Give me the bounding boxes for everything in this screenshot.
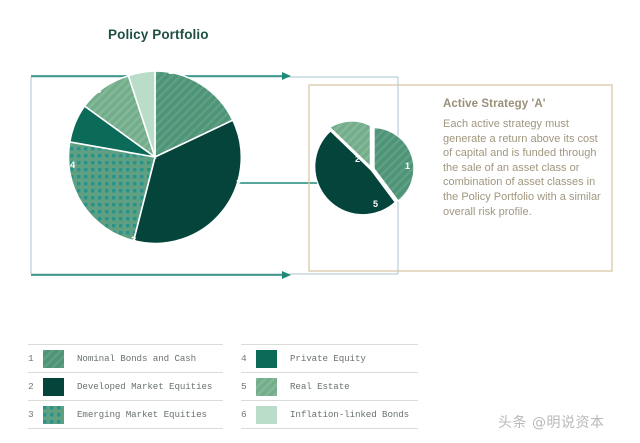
- legend-item-2: 2 Developed Market Equities: [28, 373, 223, 401]
- pie-label-2: 2: [236, 178, 241, 189]
- legend-number: 1: [28, 353, 43, 364]
- legend-item-6: 6 Inflation-linked Bonds: [241, 401, 418, 429]
- legend-swatch-solid-pale-green: [256, 406, 277, 424]
- legend-swatch-hatch-medium-green: [43, 350, 64, 368]
- pie-label-4: 4: [70, 160, 76, 171]
- legend-number: 3: [28, 409, 43, 420]
- infographic-canvas: Policy Portfolio: [0, 0, 640, 443]
- legend-item-1: 1 Nominal Bonds and Cash: [28, 344, 223, 373]
- pie-label-6: 6: [140, 64, 145, 75]
- legend-swatch-solid-teal: [256, 350, 277, 368]
- legend-label: Emerging Market Equities: [77, 409, 207, 420]
- legend-number: 5: [241, 381, 256, 392]
- legend-number: 6: [241, 409, 256, 420]
- legend: 1 Nominal Bonds and Cash 2 Developed Mar…: [28, 344, 418, 429]
- legend-number: 2: [28, 381, 43, 392]
- legend-number: 4: [241, 353, 256, 364]
- legend-label: Inflation-linked Bonds: [290, 409, 409, 420]
- legend-item-5: 5 Real Estate: [241, 373, 418, 401]
- policy-portfolio-pie: [68, 71, 241, 243]
- active-strategy-a-pie: [315, 121, 414, 215]
- legend-swatch-solid-dark-green: [43, 378, 64, 396]
- legend-swatch-dotted-grid-green: [43, 406, 64, 424]
- legend-item-4: 4 Private Equity: [241, 344, 418, 373]
- small-pie-label-5: 5: [373, 199, 378, 209]
- legend-swatch-hatch-light-sage: [256, 378, 277, 396]
- pie-label-1: 1: [168, 66, 174, 77]
- legend-column-right: 4 Private Equity 5 Real Estate 6 Inflati…: [223, 344, 418, 429]
- callout-body: Each active strategy must generate a ret…: [443, 117, 605, 219]
- callout-title: Active Strategy 'A': [443, 98, 605, 110]
- legend-label: Nominal Bonds and Cash: [77, 353, 196, 364]
- pie-label-5: 5: [96, 85, 102, 96]
- watermark: 头条 @明说资本: [498, 412, 604, 432]
- legend-item-3: 3 Emerging Market Equities: [28, 401, 223, 429]
- legend-label: Developed Market Equities: [77, 381, 212, 392]
- legend-label: Private Equity: [290, 353, 366, 364]
- legend-column-left: 1 Nominal Bonds and Cash 2 Developed Mar…: [28, 344, 223, 429]
- callout-text-block: Active Strategy 'A' Each active strategy…: [443, 98, 605, 219]
- pie-label-3: 3: [131, 235, 136, 246]
- legend-label: Real Estate: [290, 381, 350, 392]
- small-pie-label-2: 2: [355, 154, 360, 164]
- small-pie-label-1: 1: [405, 161, 410, 171]
